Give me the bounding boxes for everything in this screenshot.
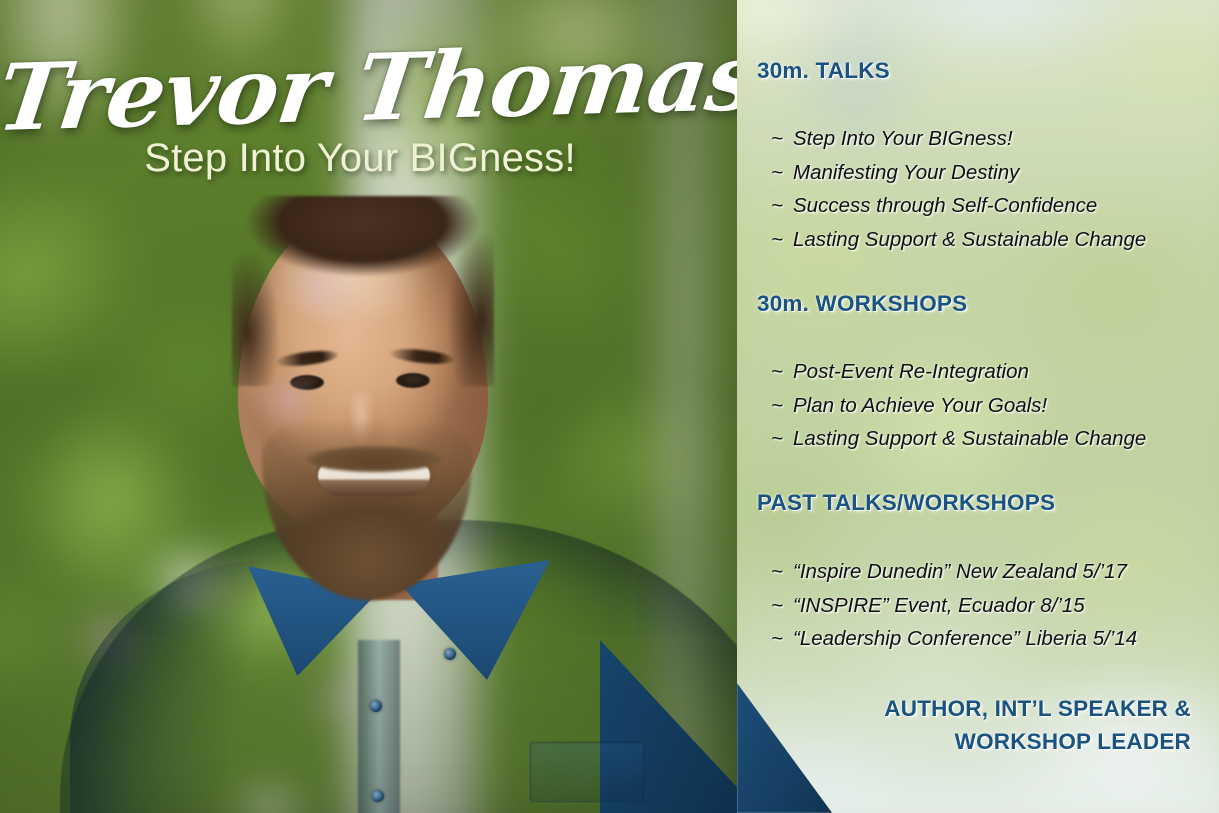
speaker-promo-card: Trevor Thomas Step Into Your BIGness! 30… <box>0 0 1219 813</box>
bullet-tilde-icon: ~ <box>771 555 793 589</box>
list-item: ~Lasting Support & Sustainable Change <box>771 422 1146 456</box>
bullet-tilde-icon: ~ <box>771 156 793 190</box>
list-item: ~Success through Self-Confidence <box>771 189 1146 223</box>
hair <box>232 196 494 386</box>
info-panel: 30m. TALKS ~Step Into Your BIGness! ~Man… <box>737 0 1219 813</box>
credentials-block: AUTHOR, INT’L SPEAKER & WORKSHOP LEADER <box>884 692 1191 758</box>
section-heading-workshops: 30m. WORKSHOPS <box>757 291 967 317</box>
section-heading-talks: 30m. TALKS <box>757 58 890 84</box>
list-item-label: Manifesting Your Destiny <box>793 161 1019 184</box>
talks-list: ~Step Into Your BIGness! ~Manifesting Yo… <box>771 122 1146 256</box>
bullet-tilde-icon: ~ <box>771 122 793 156</box>
info-panel-content: 30m. TALKS ~Step Into Your BIGness! ~Man… <box>737 0 1219 813</box>
list-item-label: Post-Event Re-Integration <box>793 360 1029 383</box>
list-item-label: “Inspire Dunedin” New Zealand 5/’17 <box>793 560 1127 583</box>
shirt-pocket <box>530 742 644 802</box>
list-item: ~“Leadership Conference” Liberia 5/’14 <box>771 622 1137 656</box>
list-item-label: Lasting Support & Sustainable Change <box>793 427 1146 450</box>
bullet-tilde-icon: ~ <box>771 189 793 223</box>
shirt-placket <box>358 640 400 813</box>
list-item: ~Manifesting Your Destiny <box>771 156 1146 190</box>
list-item-label: “Leadership Conference” Liberia 5/’14 <box>793 627 1137 650</box>
list-item: ~Lasting Support & Sustainable Change <box>771 223 1146 257</box>
bullet-tilde-icon: ~ <box>771 355 793 389</box>
bullet-tilde-icon: ~ <box>771 422 793 456</box>
credentials-line-1: AUTHOR, INT’L SPEAKER & <box>884 692 1191 725</box>
collar-snap <box>444 648 456 660</box>
workshops-list: ~Post-Event Re-Integration ~Plan to Achi… <box>771 355 1146 456</box>
list-item: ~Plan to Achieve Your Goals! <box>771 389 1146 423</box>
bullet-tilde-icon: ~ <box>771 389 793 423</box>
mustache <box>306 446 442 472</box>
shirt-button-top <box>370 700 382 712</box>
shirt-button-mid <box>372 790 384 802</box>
speaker-portrait-photo: Trevor Thomas Step Into Your BIGness! <box>0 0 737 813</box>
list-item: ~Post-Event Re-Integration <box>771 355 1146 389</box>
list-item-label: “INSPIRE” Event, Ecuador 8/’15 <box>793 594 1085 617</box>
list-item: ~Step Into Your BIGness! <box>771 122 1146 156</box>
list-item-label: Step Into Your BIGness! <box>793 127 1013 150</box>
bullet-tilde-icon: ~ <box>771 622 793 656</box>
bullet-tilde-icon: ~ <box>771 223 793 257</box>
speaker-figure <box>0 0 737 813</box>
credentials-line-2: WORKSHOP LEADER <box>884 725 1191 758</box>
bullet-tilde-icon: ~ <box>771 589 793 623</box>
list-item-label: Plan to Achieve Your Goals! <box>793 394 1047 417</box>
list-item: ~“INSPIRE” Event, Ecuador 8/’15 <box>771 589 1137 623</box>
list-item-label: Success through Self-Confidence <box>793 194 1097 217</box>
list-item: ~“Inspire Dunedin” New Zealand 5/’17 <box>771 555 1137 589</box>
list-item-label: Lasting Support & Sustainable Change <box>793 228 1146 251</box>
past-talks-list: ~“Inspire Dunedin” New Zealand 5/’17 ~“I… <box>771 555 1137 656</box>
section-heading-past-talks-workshops: PAST TALKS/WORKSHOPS <box>757 490 1055 516</box>
eye-right <box>396 373 430 388</box>
